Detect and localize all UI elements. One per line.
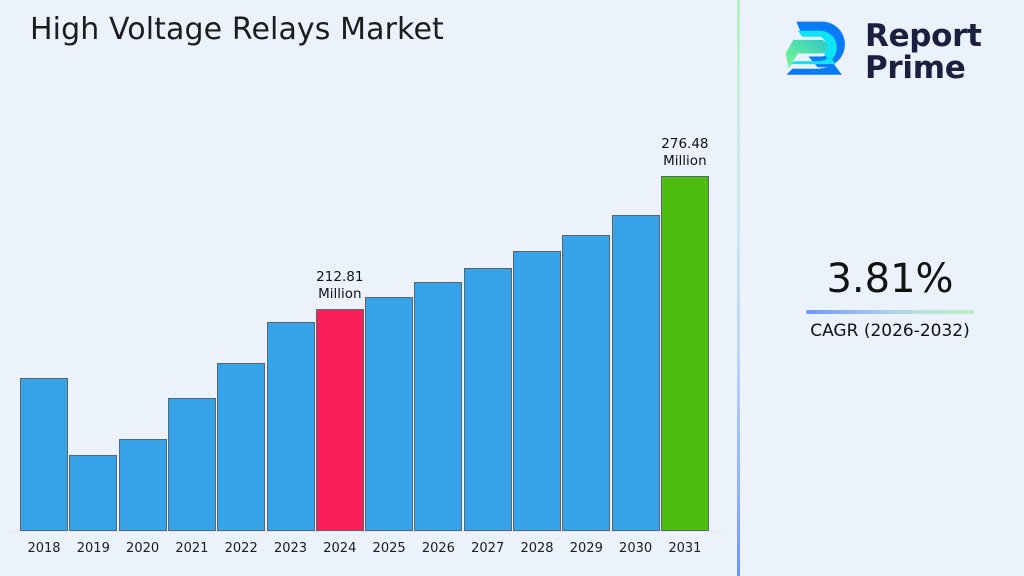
cagr-value: 3.81% (770, 255, 1010, 303)
brand-logo[interactable]: Report Prime (775, 12, 1005, 92)
bar-value-unit: Million (299, 286, 381, 303)
x-axis-tick-label: 2023 (267, 540, 315, 558)
x-axis-tick-label: 2028 (513, 540, 561, 558)
x-axis-tick-label: 2031 (661, 540, 709, 558)
x-axis-tick-label: 2029 (562, 540, 610, 558)
chart-bar (513, 251, 561, 531)
bar-value-label: 276.48Million (644, 136, 726, 170)
x-axis-tick-label: 2026 (414, 540, 462, 558)
chart-bar (612, 215, 660, 531)
brand-logo-text: Report Prime (865, 20, 982, 84)
chart-bar (316, 309, 364, 531)
x-axis-tick-label: 2030 (612, 540, 660, 558)
x-axis-tick-label: 2018 (20, 540, 68, 558)
brand-line-1: Report (865, 20, 982, 52)
chart-bars-layer: 212.81Million276.48Million (0, 0, 737, 531)
chart-bar (217, 363, 265, 531)
bar-value-unit: Million (644, 153, 726, 170)
chart-bar (69, 455, 117, 531)
x-axis-tick-label: 2025 (365, 540, 413, 558)
cagr-divider-rule (806, 310, 974, 314)
panel-divider (737, 0, 740, 576)
cagr-panel: 3.81% CAGR (2026-2032) (770, 255, 1010, 342)
brand-line-2: Prime (865, 52, 982, 84)
bar-value-number: 276.48 (644, 136, 726, 153)
bar-chart: 212.81Million276.48Million 2018201920202… (0, 0, 737, 576)
x-axis-tick-label: 2021 (168, 540, 216, 558)
x-axis-tick-label: 2027 (464, 540, 512, 558)
chart-bar (168, 398, 216, 531)
chart-bar (661, 176, 709, 531)
chart-bar (119, 439, 167, 531)
chart-bar (414, 282, 462, 531)
infographic-root: High Voltage Relays Market 212.81Million… (0, 0, 1024, 576)
cagr-label: CAGR (2026-2032) (770, 320, 1010, 342)
x-axis-tick-label: 2020 (119, 540, 167, 558)
chart-bar (20, 378, 68, 531)
chart-bar (365, 297, 413, 531)
x-axis-tick-label: 2019 (69, 540, 117, 558)
report-prime-r-logo-icon (775, 14, 851, 90)
chart-bar (464, 268, 512, 531)
chart-bar (562, 235, 610, 531)
chart-baseline (8, 531, 723, 532)
x-axis-tick-label: 2024 (316, 540, 364, 558)
chart-bar (267, 322, 315, 531)
bar-value-label: 212.81Million (299, 269, 381, 303)
x-axis-tick-label: 2022 (217, 540, 265, 558)
bar-value-number: 212.81 (299, 269, 381, 286)
